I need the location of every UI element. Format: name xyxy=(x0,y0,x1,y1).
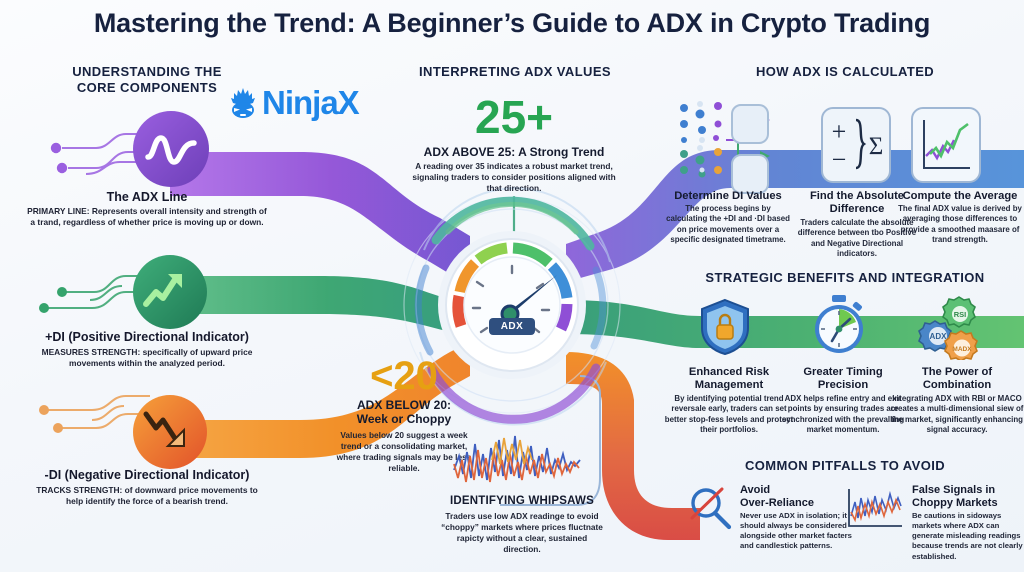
svg-text:MADX: MADX xyxy=(952,346,972,353)
down-arrow-chart-icon xyxy=(132,394,208,470)
gears-combination-icon: ADX RSI MADX xyxy=(912,292,984,360)
adx-wave-icon xyxy=(132,110,210,188)
section-heading-core: UNDERSTANDING THE CORE COMPONENTS xyxy=(34,64,260,97)
gauge-label: ADX xyxy=(489,318,535,335)
adx-above-title: ADX ABOVE 25: A Strong Trend xyxy=(414,145,614,159)
brand-name: NinjaX xyxy=(262,86,359,119)
svg-text:−: − xyxy=(832,145,847,174)
plus-minus-sigma-icon: + − Σ xyxy=(820,106,892,184)
svg-text:ADX: ADX xyxy=(930,332,948,341)
benefit1-title: Enhanced Risk Management xyxy=(664,366,794,393)
page-title: Mastering the Trend: A Beginner’s Guide … xyxy=(0,8,1024,39)
node-title-plus-di: +DI (Positive Directional Indicator) xyxy=(26,330,268,345)
whipsaw-chart-icon xyxy=(452,430,590,492)
calc-step1-title: Determine DI Values xyxy=(666,190,790,203)
calc-step3-title: Compute the Average xyxy=(898,190,1022,203)
choppy-chart-icon xyxy=(846,486,908,534)
section-heading-pitfalls: COMMON PITFALLS TO AVOID xyxy=(700,458,990,474)
benefit3-title: The Power of Combination xyxy=(892,366,1022,393)
shield-lock-icon xyxy=(698,298,752,356)
pitfall2-body: Be cautions in sidoways markets where AD… xyxy=(912,511,1024,562)
calc-step3-body: The final ADX value is derived by averag… xyxy=(896,204,1024,245)
adx-above-value: 25+ xyxy=(420,94,608,140)
stopwatch-icon xyxy=(808,294,870,356)
node-body-plus-di: MEASURES STRENGTH: specifically of upwar… xyxy=(28,347,266,369)
up-arrow-chart-icon xyxy=(132,254,208,330)
adx-below-title: ADX BELOW 20: Week or Choppy xyxy=(334,398,474,427)
node-title-adx-line: The ADX Line xyxy=(34,190,260,205)
section-heading-benefits: STRATEGIC BENEFITS AND INTEGRATION xyxy=(690,270,1000,286)
benefit2-title: Greater Timing Precision xyxy=(778,366,908,393)
whipsaws-title: IDENTIFYING WHIPSAWS xyxy=(440,495,604,509)
benefit3-body: Integrating ADX with RBI or MACO creates… xyxy=(890,394,1024,435)
infographic-canvas: Mastering the Trend: A Beginner’s Guide … xyxy=(0,0,1024,572)
pitfall1-body: Never use ADX in isolation; it should al… xyxy=(740,511,856,552)
svg-text:Σ: Σ xyxy=(869,133,884,160)
adx-above-body: A reading over 35 indicates a robust mar… xyxy=(412,161,616,194)
line-chart-box-icon xyxy=(910,106,982,184)
pitfall2-title: False Signals in Choppy Markets xyxy=(912,484,1024,511)
no-magnifier-icon xyxy=(686,484,734,532)
section-heading-calculated: HOW ADX IS CALCULATED xyxy=(700,64,990,80)
node-title-minus-di: -DI (Negative Directional Indicator) xyxy=(24,468,270,483)
di-box-lower-icon xyxy=(730,153,770,195)
gauge-dial-icon xyxy=(437,230,587,380)
pitfall1-title: Avoid Over-Reliance xyxy=(740,484,850,511)
node-body-adx-line: PRIMARY LINE: Represents overall intensi… xyxy=(26,206,268,228)
section-heading-interpreting: INTERPRETING ADX VALUES xyxy=(390,64,640,80)
node-body-minus-di: TRACKS STRENGTH: of downward price movem… xyxy=(28,485,266,507)
calc-step1-body: The process begins by calculating the +D… xyxy=(664,204,792,245)
whipsaws-body: Traders use low ADX readinge to evoid “c… xyxy=(438,511,606,555)
di-box-upper-icon xyxy=(730,103,770,145)
svg-text:+: + xyxy=(832,117,847,146)
svg-text:RSI: RSI xyxy=(954,310,967,319)
